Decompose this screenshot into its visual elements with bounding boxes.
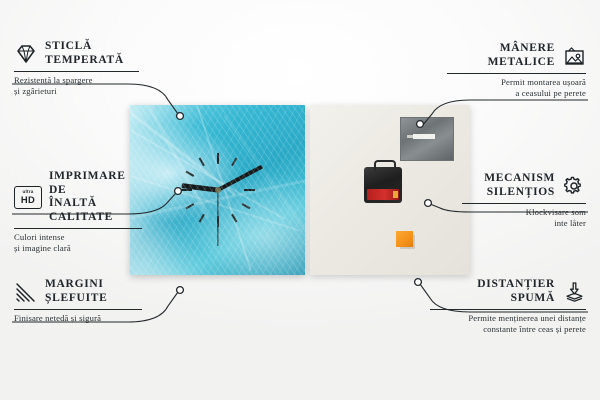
feature-title-line2: ȘLEFUITE xyxy=(45,292,107,304)
feature-divider xyxy=(430,309,586,310)
feature-divider xyxy=(14,71,139,72)
picture-hanger-icon xyxy=(562,45,586,67)
feature-title-line2: SILENȚIOS xyxy=(487,186,555,198)
clock-second-hand xyxy=(217,190,218,246)
feature-title-line2: TEMPERATĂ xyxy=(45,54,124,66)
feature-sticla-temperata: STICLĂ TEMPERATĂ Rezistență la spargere … xyxy=(14,40,139,97)
feature-title-line1: IMPRIMARE DE xyxy=(49,170,126,196)
mechanism-hook xyxy=(374,160,396,171)
clock-hour-hand xyxy=(181,183,217,192)
connector-dot xyxy=(415,279,422,286)
clock-front-panel xyxy=(130,105,305,275)
feature-sub-line1: Permite menținerea unei distanțe xyxy=(468,313,586,323)
product-imagery xyxy=(130,105,470,275)
hanger-slot xyxy=(413,134,435,139)
feature-title-line2: ÎNALTĂ CALITATE xyxy=(49,197,113,223)
feature-sub-line1: Permit montarea ușoară xyxy=(501,77,586,87)
feature-title-line1: STICLĂ xyxy=(45,40,92,52)
feature-sub-line2: inte låter xyxy=(554,218,586,228)
feature-title-line1: DISTANȚIER xyxy=(477,278,555,290)
feature-title-line1: MECANISM xyxy=(484,172,555,184)
spacer-layers-icon xyxy=(562,281,586,303)
feature-sub-line2: și zgârieturi xyxy=(14,86,57,96)
diamond-icon xyxy=(14,43,38,65)
feature-sub-line2: și imagine clară xyxy=(14,243,71,253)
infographic-canvas: STICLĂ TEMPERATĂ Rezistență la spargere … xyxy=(0,0,600,400)
feature-margini-slefuite: MARGINI ȘLEFUITE Finisare netedă și sigu… xyxy=(14,278,142,324)
feature-title-line2: METALICE xyxy=(488,56,555,68)
feature-title-line1: MARGINI xyxy=(45,278,104,290)
feature-title-line1: MÂNERE xyxy=(500,42,555,54)
clock-center-pin xyxy=(215,187,221,193)
feature-sub-line1: Culori intense xyxy=(14,232,65,242)
feature-distantier-spuma: DISTANȚIER SPUMĂ Permite menținerea unei… xyxy=(430,278,586,335)
feature-sub-line1: Finisare netedă și sigură xyxy=(14,313,101,323)
feature-imprimare-calitate: ultra HD IMPRIMARE DE ÎNALTĂ CALITATE Cu… xyxy=(14,170,142,254)
feature-sub-line2: a ceasului pe perete xyxy=(515,88,586,98)
hd-badge-main: HD xyxy=(21,195,35,204)
feature-sub-line1: Klockvisare som xyxy=(526,207,586,217)
feature-divider xyxy=(447,73,586,74)
feature-mecanism-silentios: MECANISM SILENȚIOS Klockvisare som inte … xyxy=(462,172,586,229)
metal-hanger-part xyxy=(400,117,454,161)
battery-part xyxy=(367,189,399,200)
foam-spacer-part xyxy=(396,231,413,247)
feature-sub-line1: Rezistență la spargere xyxy=(14,75,93,85)
gear-icon xyxy=(562,175,586,197)
ultra-hd-badge-icon: ultra HD xyxy=(14,186,42,209)
feature-divider xyxy=(14,228,142,229)
feature-manere-metalice: MÂNERE METALICE Permit montarea ușoară a… xyxy=(447,42,586,99)
feature-sub-line2: constante între ceas și perete xyxy=(483,324,586,334)
feature-divider xyxy=(462,203,586,204)
feature-divider xyxy=(14,309,142,310)
quartz-mechanism-part xyxy=(364,167,402,203)
feature-title-line2: SPUMĂ xyxy=(511,292,555,304)
connector-dot xyxy=(177,287,184,294)
clock-back-panel xyxy=(310,105,470,275)
polished-edge-icon xyxy=(14,281,38,303)
